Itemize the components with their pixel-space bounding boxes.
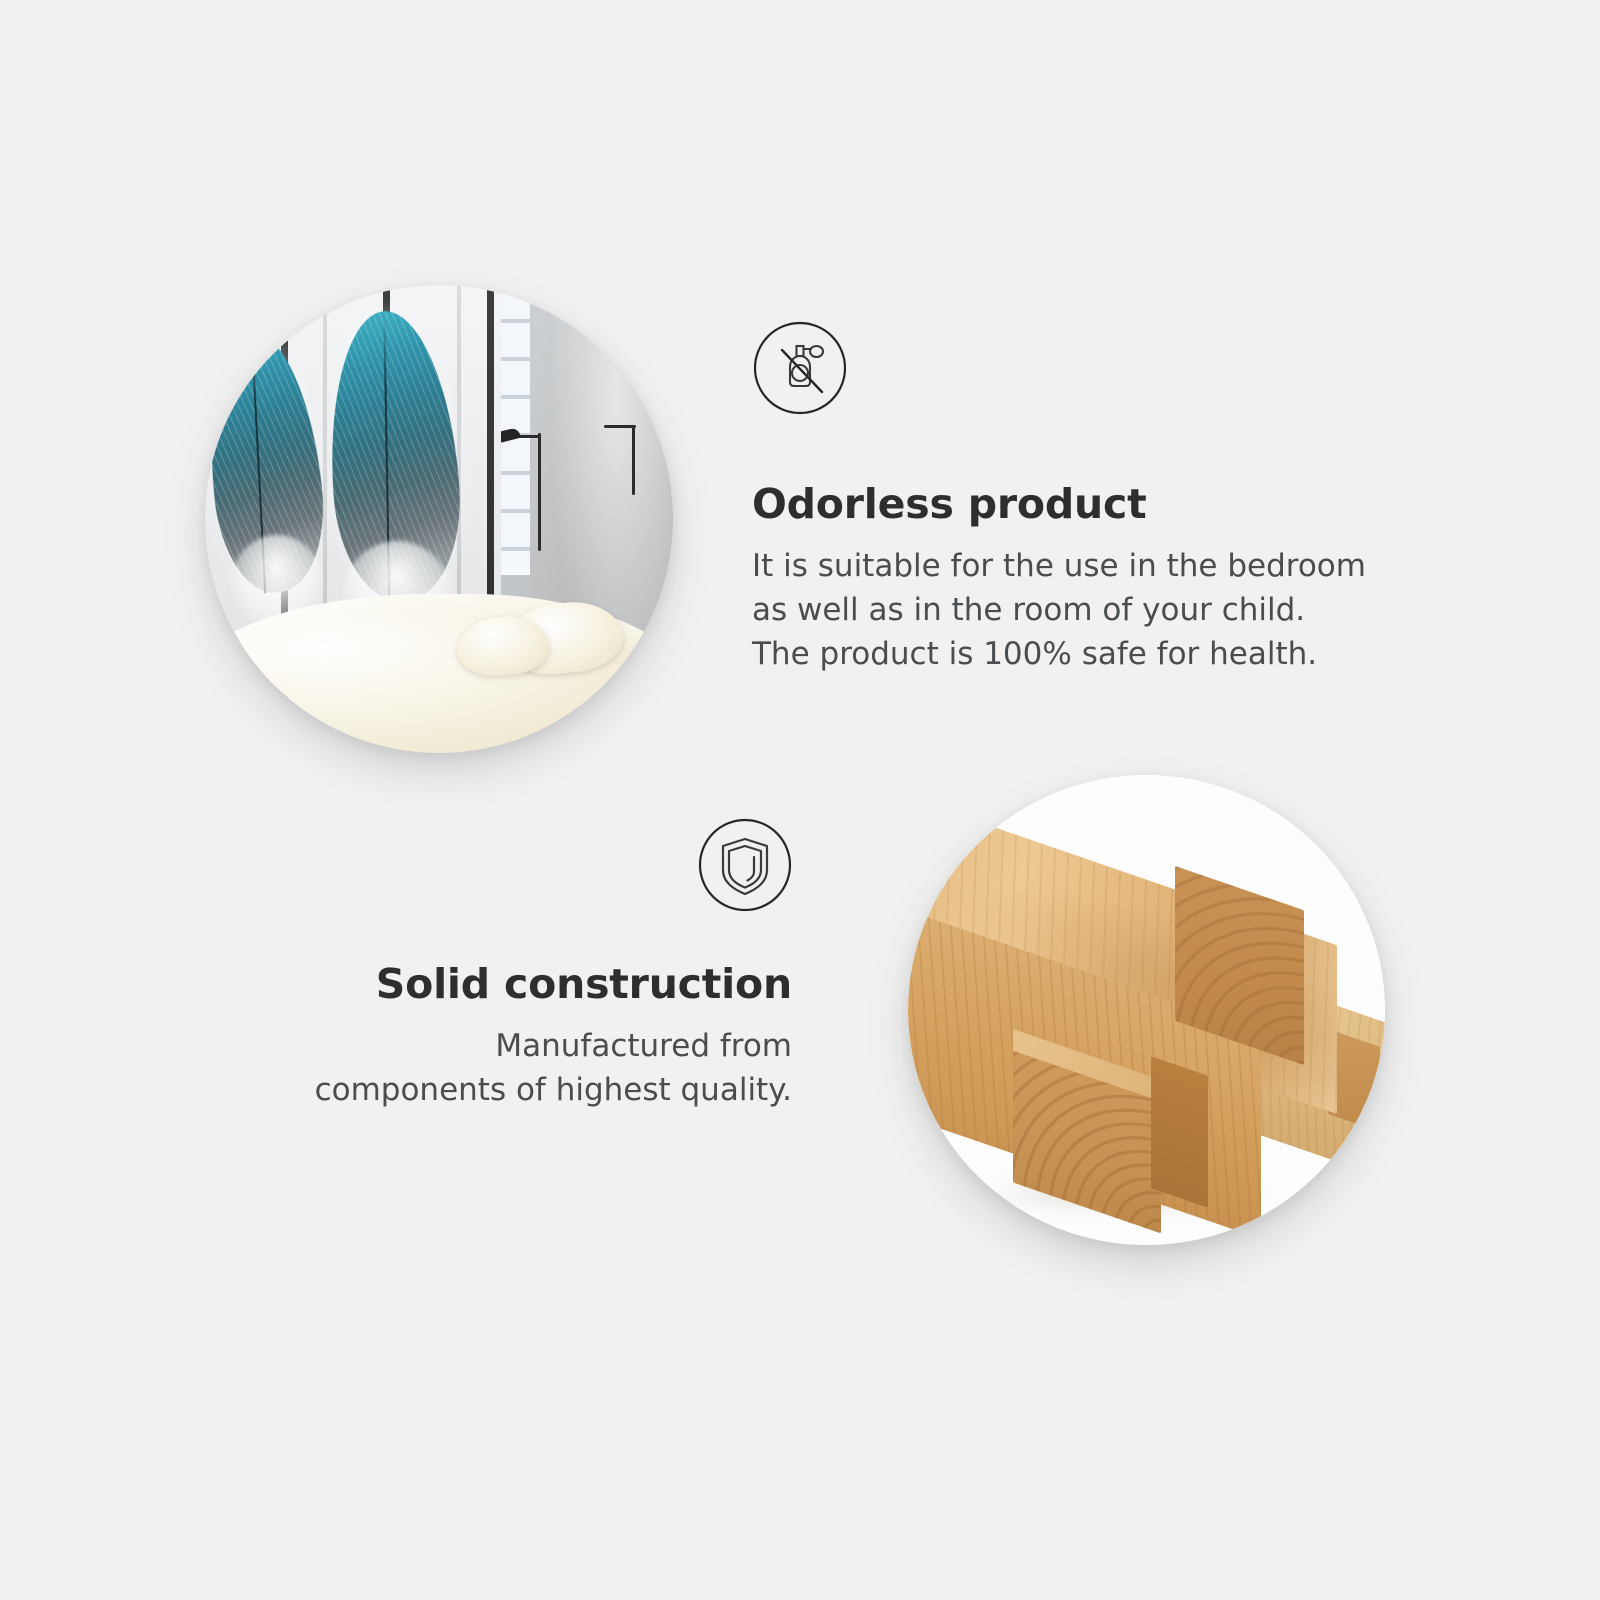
odorless-body-line-1: It is suitable for the use in the bedroo… xyxy=(752,544,1432,588)
odorless-body-line-3: The product is 100% safe for health. xyxy=(752,632,1432,676)
odorless-feature-text: Odorless product It is suitable for the … xyxy=(752,482,1432,676)
wood-cube-side-face xyxy=(1151,1057,1208,1208)
wooden-blocks-photo xyxy=(908,775,1385,1245)
solid-body-line-1: Manufactured from xyxy=(262,1024,792,1068)
infographic-canvas: Odorless product It is suitable for the … xyxy=(0,0,1600,1600)
odorless-body-line-2: as well as in the room of your child. xyxy=(752,588,1432,632)
bedroom-feather-wall-art-photo xyxy=(205,285,673,753)
odorless-body: It is suitable for the use in the bedroo… xyxy=(752,544,1432,676)
solid-body: Manufactured from components of highest … xyxy=(262,1024,792,1112)
solid-title: Solid construction xyxy=(262,962,792,1008)
solid-body-line-2: components of highest quality. xyxy=(262,1068,792,1112)
odorless-title: Odorless product xyxy=(752,482,1432,528)
photo-inner xyxy=(908,775,1385,1245)
floor-lamp-pole xyxy=(538,433,541,551)
bedside-lamp-arm xyxy=(604,425,636,428)
no-fragrance-icon xyxy=(752,320,848,416)
solid-feature-text: Solid construction Manufactured from com… xyxy=(262,962,792,1112)
photo-inner xyxy=(205,285,673,753)
shield-icon xyxy=(697,817,793,913)
bedside-lamp-pole xyxy=(632,425,635,495)
